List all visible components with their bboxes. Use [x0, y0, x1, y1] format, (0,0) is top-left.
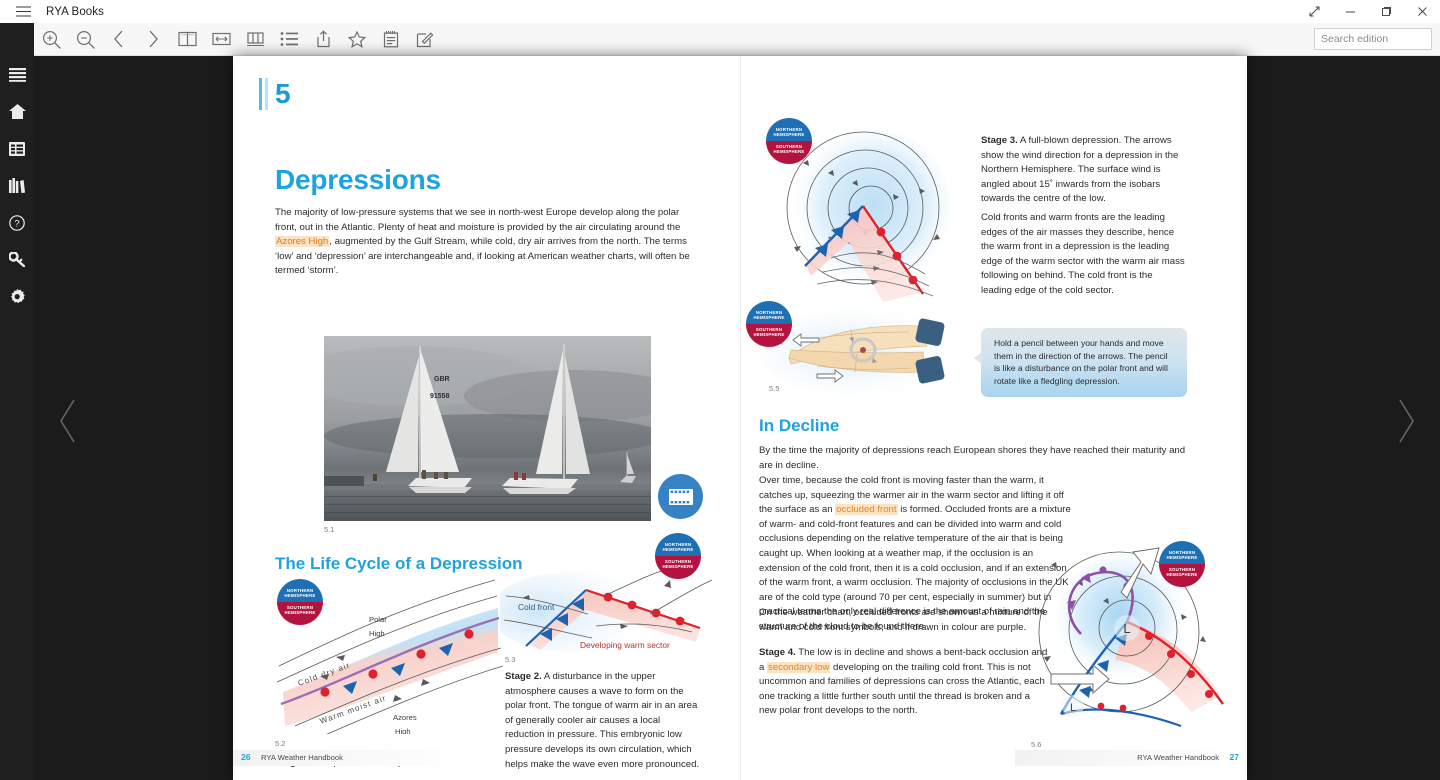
sidebar-item-library[interactable]: [0, 167, 34, 204]
sidebar-item-settings[interactable]: [0, 278, 34, 315]
intro-text-part1: The majority of low-pressure systems tha…: [275, 207, 680, 233]
section-title-in-decline: In Decline: [759, 416, 839, 436]
two-page-view-icon[interactable]: [170, 23, 204, 56]
book-spread[interactable]: Bailey Faeroes Depressions 5 Depressions…: [233, 56, 1247, 780]
svg-text:Developing warm sector: Developing warm sector: [580, 640, 670, 650]
sidebar-item-licence[interactable]: [0, 241, 34, 278]
sidebar-item-home[interactable]: [0, 93, 34, 130]
intro-paragraph: The majority of low-pressure systems tha…: [275, 206, 695, 279]
app-title: RYA Books: [46, 6, 104, 18]
stage2-text: A disturbance in the upper atmosphere ca…: [505, 671, 699, 770]
bookmark-star-icon[interactable]: [340, 23, 374, 56]
hemisphere-badge-56: NORTHERNHEMISPHERESOUTHERNHEMISPHERE: [1159, 541, 1205, 587]
svg-text:High: High: [395, 727, 411, 734]
stage3-paragraph-1: Stage 3. A full-blown depression. The ar…: [981, 134, 1186, 207]
secondary-low-highlight[interactable]: secondary low: [767, 662, 830, 673]
hemisphere-badge-53: NORTHERNHEMISPHERESOUTHERNHEMISPHERE: [655, 533, 701, 579]
notes-icon[interactable]: [374, 23, 408, 56]
fit-width-icon[interactable]: [204, 23, 238, 56]
sidebar-item-catalogue[interactable]: [0, 130, 34, 167]
expand-icon[interactable]: [1296, 0, 1332, 23]
figure-number-5-5: 5.5: [769, 384, 779, 393]
page-left: 5 Depressions The majority of low-pressu…: [233, 56, 740, 780]
page-title: Depressions: [275, 164, 441, 196]
svg-text:?: ?: [14, 218, 19, 229]
page-number-right: 27: [1229, 752, 1239, 762]
search-input[interactable]: [1321, 33, 1440, 45]
minimize-icon[interactable]: [1332, 0, 1368, 23]
previous-page-arrow[interactable]: [48, 391, 88, 451]
stage4-lead: Stage 4.: [759, 647, 796, 658]
intro-text-part2: , augmented by the Gulf Stream, while co…: [275, 236, 690, 276]
svg-text:Azores: Azores: [393, 713, 417, 722]
next-page-arrow[interactable]: [1386, 391, 1426, 451]
figure-5-6-diagram: L L: [1031, 526, 1241, 741]
left-sidebar: ?: [0, 23, 34, 780]
previous-page-icon[interactable]: [102, 23, 136, 56]
hemisphere-badge-54: NORTHERNHEMISPHERESOUTHERNHEMISPHERE: [766, 118, 812, 164]
stage4-caption: Stage 4. The low is in decline and shows…: [759, 646, 1049, 719]
occluded-front-highlight[interactable]: occluded front: [835, 504, 897, 515]
annotate-icon[interactable]: [408, 23, 442, 56]
thumbnail-view-icon[interactable]: [238, 23, 272, 56]
low-label-primary: L: [1123, 621, 1130, 636]
hemisphere-badge-55: NORTHERNHEMISPHERESOUTHERNHEMISPHERE: [746, 301, 792, 347]
stage3-lead: Stage 3.: [981, 135, 1018, 146]
sidebar-item-help[interactable]: ?: [0, 204, 34, 241]
figure-number-5-2: 5.2: [275, 739, 285, 748]
chapter-number: 5: [275, 78, 301, 110]
azores-high-highlight[interactable]: Azores High: [275, 236, 329, 247]
figure-number-5-6: 5.6: [1031, 740, 1041, 749]
footer-title-left: RYA Weather Handbook: [261, 753, 343, 762]
sidebar-item-menu[interactable]: [0, 56, 34, 93]
share-icon[interactable]: [306, 23, 340, 56]
page-right: NORTHERNHEMISPHERESOUTHERNHEMISPHERE: [740, 56, 1247, 780]
page-number-left: 26: [241, 752, 251, 762]
title-bar: RYA Books: [0, 0, 1440, 23]
chapter-tab-ticks: [259, 78, 273, 110]
contents-list-icon[interactable]: [272, 23, 306, 56]
app-menu-icon[interactable]: [0, 0, 46, 23]
reader-toolbar: [34, 23, 1440, 56]
zoom-out-icon[interactable]: [68, 23, 102, 56]
figure-number-5-1: 5.1: [324, 525, 334, 534]
search-box[interactable]: [1314, 28, 1432, 50]
video-badge-icon[interactable]: [658, 474, 703, 519]
svg-text:GBR: GBR: [434, 376, 450, 383]
svg-text:High: High: [369, 629, 385, 638]
maximize-icon[interactable]: [1368, 0, 1404, 23]
footer-title-right: RYA Weather Handbook: [1137, 753, 1219, 762]
tip-bubble: Hold a pencil between your hands and mov…: [981, 328, 1187, 397]
stage2-caption: Stage 2. A disturbance in the upper atmo…: [505, 670, 700, 772]
svg-text:Cold front: Cold front: [518, 602, 555, 612]
decline-paragraph-1: By the time the majority of depressions …: [759, 444, 1189, 473]
decline-paragraph-3: On the weather chart, occluded fronts ar…: [759, 606, 1059, 635]
svg-text:Polar: Polar: [369, 615, 387, 624]
reader-stage: Bailey Faeroes Depressions 5 Depressions…: [34, 56, 1440, 780]
zoom-in-icon[interactable]: [34, 23, 68, 56]
stage3-paragraph-2: Cold fronts and warm fronts are the lead…: [981, 211, 1186, 299]
footer-right: RYA Weather Handbook 27: [1015, 750, 1247, 766]
section-title-life-cycle: The Life Cycle of a Depression: [275, 554, 523, 574]
low-label-secondary: L: [1070, 702, 1076, 714]
close-icon[interactable]: [1404, 0, 1440, 23]
figure-number-5-3: 5.3: [505, 655, 515, 664]
stage2-lead: Stage 2.: [505, 671, 542, 682]
hemisphere-badge-52: NORTHERNHEMISPHERESOUTHERNHEMISPHERE: [277, 579, 323, 625]
next-page-icon[interactable]: [136, 23, 170, 56]
footer-left: 26 RYA Weather Handbook: [233, 750, 465, 766]
svg-text:91558: 91558: [430, 393, 450, 400]
sailboats-storm-photo: GBR 91558: [324, 336, 651, 521]
window-controls: [1296, 0, 1440, 23]
